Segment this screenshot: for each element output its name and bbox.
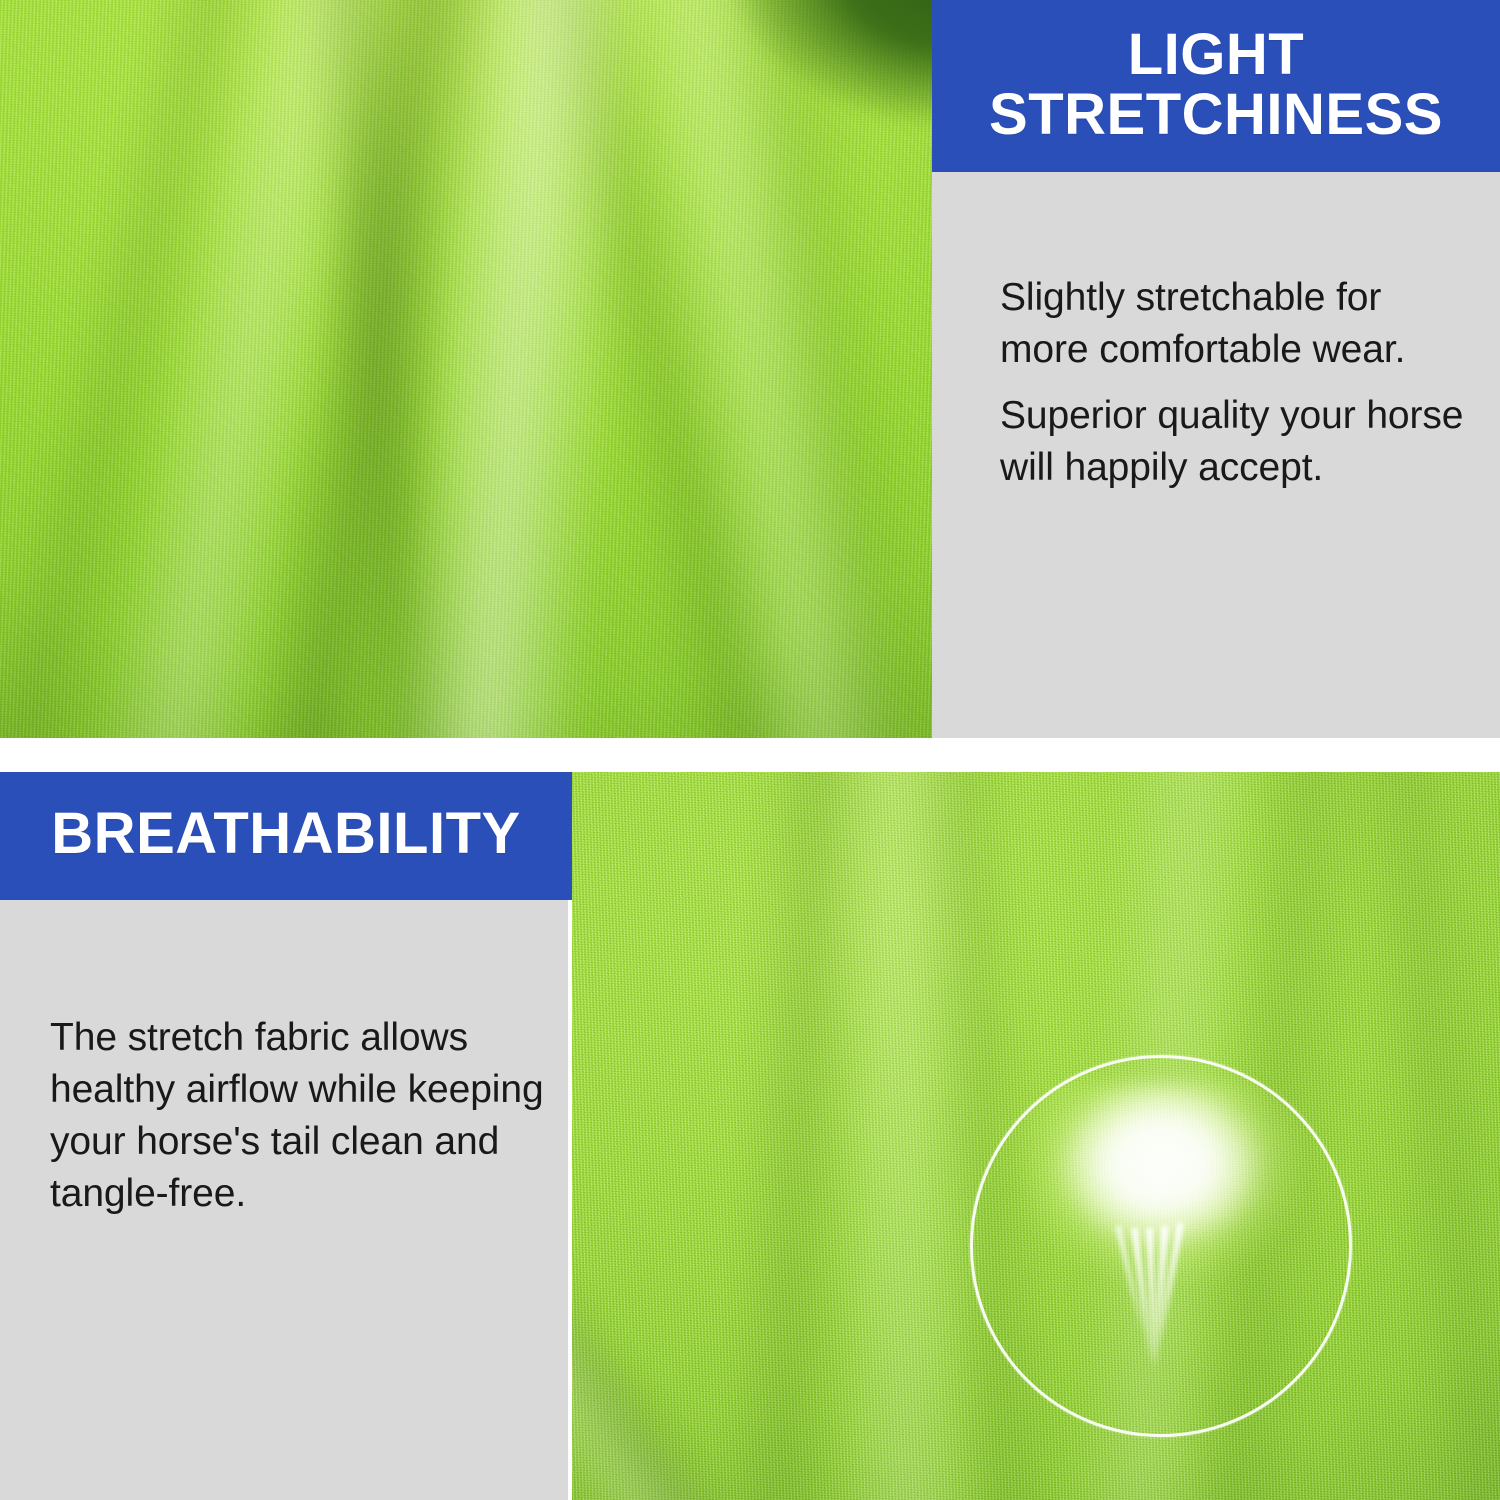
fabric-photo-breathability bbox=[572, 772, 1500, 1500]
feature-banner-light-stretchiness: LIGHT STRETCHINESS bbox=[932, 0, 1500, 172]
feature-title-light-stretchiness: LIGHT STRETCHINESS bbox=[977, 25, 1455, 146]
row-divider-gutter bbox=[0, 738, 1500, 772]
infographic-canvas: LIGHT STRETCHINESS Slightly stretchable … bbox=[0, 0, 1500, 1500]
knit-vignette bbox=[572, 772, 1500, 1500]
feature-text-panel-breathability: The stretch fabric allows healthy airflo… bbox=[0, 900, 568, 1500]
feature-text-panel-light-stretchiness: Slightly stretchable for more comfortabl… bbox=[932, 172, 1500, 738]
fabric-photo-light-stretchiness bbox=[0, 0, 932, 738]
feature-banner-breathability: BREATHABILITY bbox=[0, 772, 572, 900]
feature-paragraph-1: Slightly stretchable for more comfortabl… bbox=[1000, 272, 1468, 376]
feature-paragraph-2: Superior quality your horse will happily… bbox=[1000, 390, 1468, 494]
feature-title-breathability: BREATHABILITY bbox=[41, 804, 530, 868]
feature-paragraph-breathability: The stretch fabric allows healthy airflo… bbox=[50, 1012, 550, 1219]
fabric-vignette bbox=[0, 0, 932, 738]
